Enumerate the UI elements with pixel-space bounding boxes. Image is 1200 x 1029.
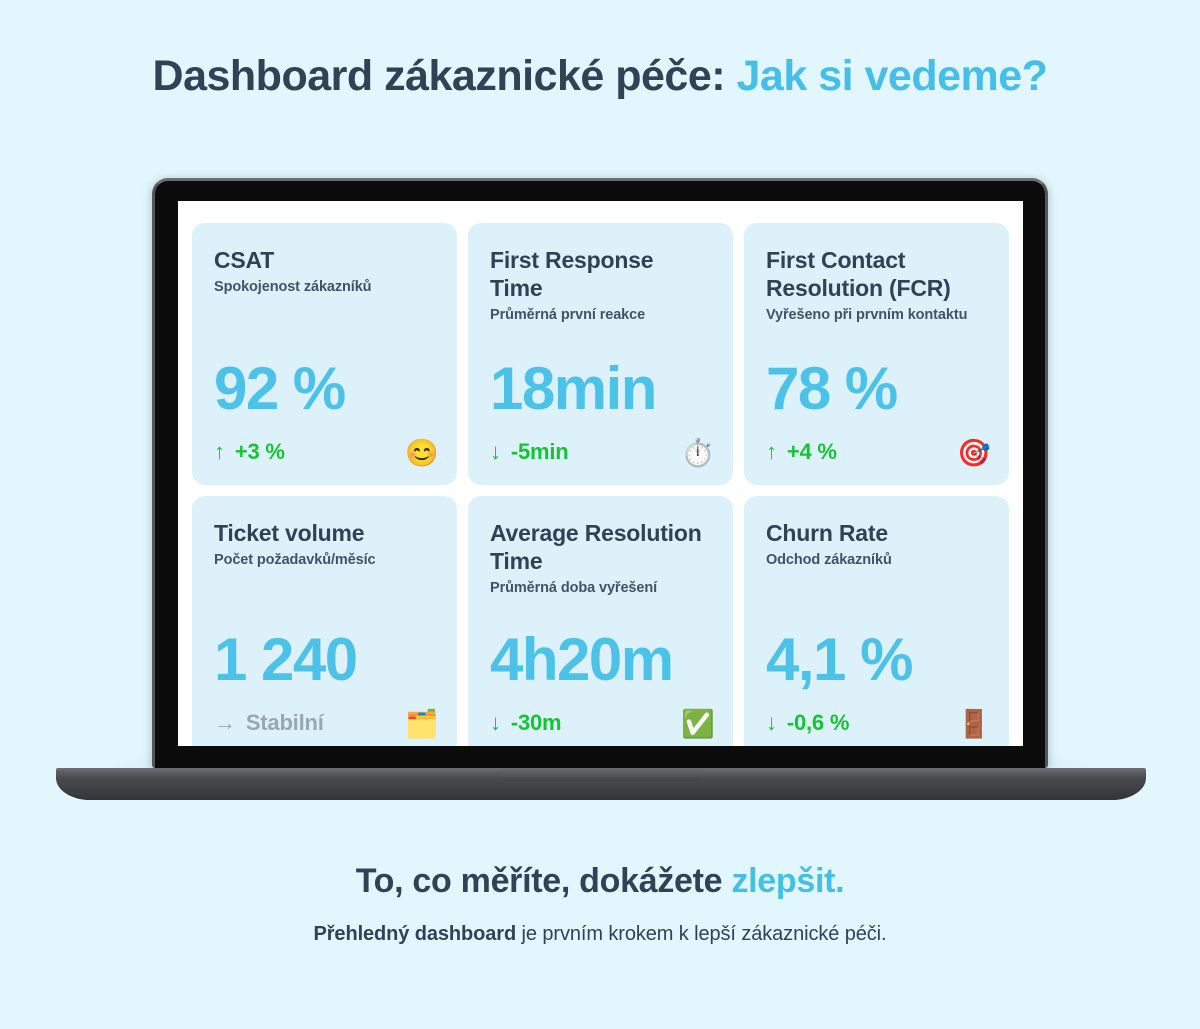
kpi-card-title: First Contact Resolution (FCR) (766, 246, 987, 302)
footer-headline: To, co měříte, dokážete zlepšit. (0, 862, 1200, 901)
kpi-card-subtitle: Počet požadavků/měsíc (214, 552, 435, 568)
kpi-card-delta-label: Stabilní (246, 710, 324, 735)
page-title: Dashboard zákaznické péče: Jak si vedeme… (0, 52, 1200, 101)
kpi-card-delta: ↓-0,6 % (766, 712, 849, 734)
kpi-card-value: 92 % (214, 359, 345, 419)
kpi-card: Churn RateOdchod zákazníků4,1 %↓-0,6 %🚪 (744, 496, 1009, 746)
footer: To, co měříte, dokážete zlepšit. Přehled… (0, 862, 1200, 946)
trend-arrow-icon: ↓ (490, 439, 501, 464)
kpi-card-subtitle: Vyřešeno při prvním kontaktu (766, 307, 987, 323)
check-mark-button-icon: ✅ (681, 711, 715, 738)
kpi-card: Ticket volumePočet požadavků/měsíc1 240→… (192, 496, 457, 746)
kpi-card-subtitle: Průměrná první reakce (490, 307, 711, 323)
kpi-card: First Response TimePrůměrná první reakce… (468, 223, 733, 485)
footer-headline-lead: To, co měříte, dokážete (356, 862, 723, 900)
kpi-card-title: Churn Rate (766, 519, 987, 547)
kpi-card-subtitle: Odchod zákazníků (766, 552, 987, 568)
page-title-lead: Dashboard zákaznické péče: (153, 52, 726, 100)
trend-arrow-icon: ↑ (766, 439, 777, 464)
kpi-card-delta-label: +4 % (787, 439, 837, 464)
kpi-card-delta-label: -0,6 % (787, 710, 849, 735)
footer-subtext: Přehledný dashboard je prvním krokem k l… (0, 923, 1200, 946)
kpi-card-subtitle: Průměrná doba vyřešení (490, 580, 711, 596)
page-title-accent: Jak si vedeme? (737, 52, 1048, 100)
laptop-base-notch (499, 768, 704, 781)
smiling-face-icon: 😊 (405, 440, 439, 467)
kpi-card: Average Resolution TimePrůměrná doba vyř… (468, 496, 733, 746)
footer-subtext-rest: je prvním krokem k lepší zákaznické péči… (516, 923, 886, 945)
kpi-card-value: 4h20m (490, 630, 673, 690)
kpi-card-delta: ↑+4 % (766, 441, 837, 463)
trend-arrow-icon: ↓ (490, 710, 501, 735)
laptop-screen: CSATSpokojenost zákazníků92 %↑+3 %😊First… (178, 201, 1023, 746)
kpi-card-delta: →Stabilní (214, 712, 324, 734)
kpi-card-delta: ↓-5min (490, 441, 569, 463)
kpi-card-delta: ↓-30m (490, 712, 561, 734)
footer-headline-accent: zlepšit. (731, 862, 844, 900)
kpi-card: CSATSpokojenost zákazníků92 %↑+3 %😊 (192, 223, 457, 485)
kpi-card-value: 18min (490, 359, 656, 419)
card-index-dividers-icon: 🗂️ (405, 711, 439, 738)
kpi-card: First Contact Resolution (FCR)Vyřešeno p… (744, 223, 1009, 485)
kpi-card-delta-label: -5min (511, 439, 569, 464)
kpi-card-delta-label: +3 % (235, 439, 285, 464)
target-dart-icon: 🎯 (957, 440, 991, 467)
laptop-base (56, 768, 1146, 804)
kpi-card-title: First Response Time (490, 246, 711, 302)
kpi-card-value: 78 % (766, 359, 897, 419)
kpi-card-title: CSAT (214, 246, 435, 274)
kpi-card-title: Average Resolution Time (490, 519, 711, 575)
door-icon: 🚪 (957, 711, 991, 738)
kpi-card-subtitle: Spokojenost zákazníků (214, 279, 435, 295)
kpi-card-value: 1 240 (214, 630, 357, 690)
kpi-card-title: Ticket volume (214, 519, 435, 547)
laptop-base-body (56, 778, 1146, 800)
trend-arrow-icon: ↓ (766, 710, 777, 735)
kpi-card-delta-label: -30m (511, 710, 562, 735)
trend-arrow-icon: ↑ (214, 439, 225, 464)
kpi-card-value: 4,1 % (766, 630, 912, 690)
kpi-card-grid: CSATSpokojenost zákazníků92 %↑+3 %😊First… (192, 223, 1009, 746)
laptop-mockup: CSATSpokojenost zákazníků92 %↑+3 %😊First… (0, 170, 1200, 810)
footer-subtext-strong: Přehledný dashboard (314, 923, 517, 945)
stopwatch-icon: ⏱️ (681, 440, 715, 467)
kpi-card-delta: ↑+3 % (214, 441, 285, 463)
trend-arrow-icon: → (214, 710, 236, 735)
